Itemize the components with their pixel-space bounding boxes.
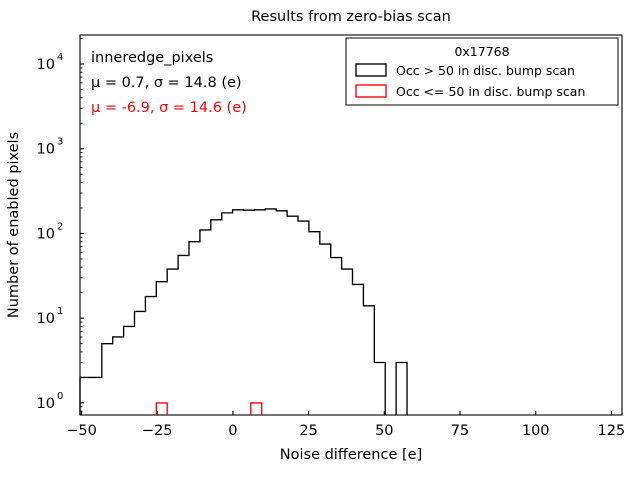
y-axis-label: Number of enabled pixels bbox=[6, 132, 22, 318]
legend-title: 0x17768 bbox=[454, 44, 509, 59]
figure-canvas: Results from zero-bias scan −50−25025507… bbox=[0, 0, 640, 480]
chart-title: Results from zero-bias scan bbox=[251, 9, 451, 25]
svg-text:10: 10 bbox=[37, 57, 55, 73]
legend-label-2: Occ <= 50 in disc. bump scan bbox=[396, 84, 585, 99]
x-tick-label: 0 bbox=[228, 423, 237, 439]
legend-label-1: Occ > 50 in disc. bump scan bbox=[396, 63, 575, 78]
annotation-stats-black: μ = 0.7, σ = 14.8 (e) bbox=[91, 75, 242, 91]
x-tick-label: −50 bbox=[66, 423, 97, 439]
x-tick-label: 75 bbox=[451, 423, 469, 439]
chart-legend[interactable]: 0x17768 Occ > 50 in disc. bump scanOcc <… bbox=[346, 38, 618, 105]
svg-text:0: 0 bbox=[57, 391, 63, 402]
svg-text:10: 10 bbox=[37, 396, 55, 412]
svg-text:10: 10 bbox=[37, 226, 55, 242]
svg-text:3: 3 bbox=[57, 137, 63, 148]
x-tick-label: 100 bbox=[522, 423, 550, 439]
x-tick-label: 50 bbox=[375, 423, 393, 439]
annotation-stats-red: μ = -6.9, σ = 14.6 (e) bbox=[91, 100, 247, 116]
svg-text:2: 2 bbox=[57, 221, 63, 232]
x-tick-label: 125 bbox=[598, 423, 626, 439]
svg-text:10: 10 bbox=[37, 142, 55, 158]
annotation-dataset-name: inneredge_pixels bbox=[91, 50, 213, 66]
svg-text:1: 1 bbox=[57, 306, 63, 317]
svg-text:10: 10 bbox=[37, 311, 55, 327]
x-axis-label: Noise difference [e] bbox=[280, 447, 422, 463]
x-tick-label: 25 bbox=[299, 423, 317, 439]
svg-text:4: 4 bbox=[57, 52, 63, 63]
chart-svg: Results from zero-bias scan −50−25025507… bbox=[0, 0, 640, 480]
x-tick-label: −25 bbox=[142, 423, 173, 439]
